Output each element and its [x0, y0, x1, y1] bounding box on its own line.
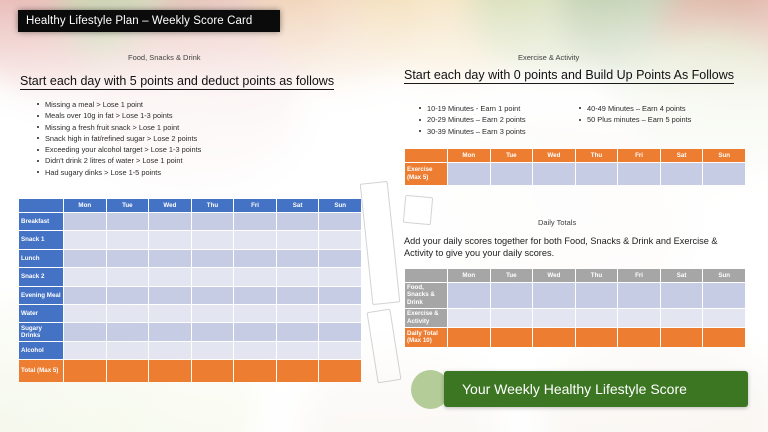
row-label-food-snacks-drink: Food, Snacks & Drink: [405, 283, 447, 308]
cell-lunch-mon[interactable]: [64, 250, 106, 267]
cell-snack2-sat[interactable]: [277, 268, 319, 285]
cell-sugary-sun[interactable]: [319, 323, 361, 340]
cell-activity-thu[interactable]: [576, 309, 618, 327]
cell-alcohol-wed[interactable]: [149, 342, 191, 359]
cell-water-sun[interactable]: [319, 305, 361, 322]
cell-water-sat[interactable]: [277, 305, 319, 322]
cell-daily-total-tue[interactable]: [491, 328, 533, 347]
cell-food-sun[interactable]: [703, 283, 745, 308]
row-label-exercise: Exercise (Max 5): [405, 163, 447, 185]
cell-lunch-wed[interactable]: [149, 250, 191, 267]
cell-exercise-wed[interactable]: [533, 163, 575, 185]
cell-alcohol-tue[interactable]: [107, 342, 149, 359]
right-section-caption: Exercise & Activity: [518, 53, 579, 62]
cell-sugary-mon[interactable]: [64, 323, 106, 340]
column-header-tue: Tue: [107, 199, 149, 212]
column-header-wed: Wed: [149, 199, 191, 212]
table-corner-cell: [405, 149, 447, 162]
cell-snack1-wed[interactable]: [149, 231, 191, 248]
cell-evening-fri[interactable]: [234, 287, 276, 304]
column-header-thu: Thu: [576, 149, 618, 162]
cell-breakfast-fri[interactable]: [234, 213, 276, 230]
weekly-score-banner: Your Weekly Healthy Lifestyle Score: [404, 368, 748, 410]
daily-totals-paragraph: Add your daily scores together for both …: [404, 235, 748, 259]
row-label-evening-meal: Evening Meal: [19, 287, 63, 304]
table-total-row: Daily Total (Max 10): [405, 328, 745, 347]
table-row: Evening Meal: [19, 287, 361, 304]
cell-water-tue[interactable]: [107, 305, 149, 322]
column-header-sun: Sun: [703, 149, 745, 162]
list-item: 30-39 Minutes – Earn 3 points: [418, 126, 526, 137]
cell-total-sat[interactable]: [277, 360, 319, 382]
column-header-sun: Sun: [703, 269, 745, 282]
column-header-fri: Fri: [618, 269, 660, 282]
cell-lunch-fri[interactable]: [234, 250, 276, 267]
cell-snack1-fri[interactable]: [234, 231, 276, 248]
row-label-water: Water: [19, 305, 63, 322]
cell-breakfast-sun[interactable]: [319, 213, 361, 230]
cell-evening-thu[interactable]: [192, 287, 234, 304]
cell-snack2-thu[interactable]: [192, 268, 234, 285]
cell-breakfast-wed[interactable]: [149, 213, 191, 230]
cell-food-mon[interactable]: [448, 283, 490, 308]
list-item: Missing a meal > Lose 1 point: [36, 99, 201, 110]
cell-daily-total-mon[interactable]: [448, 328, 490, 347]
cell-snack1-sat[interactable]: [277, 231, 319, 248]
cell-evening-wed[interactable]: [149, 287, 191, 304]
cell-daily-total-thu[interactable]: [576, 328, 618, 347]
table-row: Water: [19, 305, 361, 322]
row-label-exercise-activity: Exercise & Activity: [405, 309, 447, 327]
list-item: 40-49 Minutes – Earn 4 points: [578, 103, 691, 114]
column-header-wed: Wed: [533, 149, 575, 162]
table-row: Breakfast: [19, 213, 361, 230]
cell-lunch-tue[interactable]: [107, 250, 149, 267]
column-header-mon: Mon: [448, 269, 490, 282]
column-header-mon: Mon: [64, 199, 106, 212]
list-item: 50 Plus minutes – Earn 5 points: [578, 114, 691, 125]
row-label-snack-1: Snack 1: [19, 231, 63, 248]
cell-activity-wed[interactable]: [533, 309, 575, 327]
list-item: 10-19 Minutes - Earn 1 point: [418, 103, 526, 114]
cell-activity-sat[interactable]: [661, 309, 703, 327]
column-header-sun: Sun: [319, 199, 361, 212]
exercise-rules-list-col2: 40-49 Minutes – Earn 4 points 50 Plus mi…: [578, 103, 691, 126]
banner-label: Your Weekly Healthy Lifestyle Score: [444, 381, 687, 397]
slide-title-bar: Healthy Lifestyle Plan – Weekly Score Ca…: [18, 10, 280, 32]
cell-exercise-fri[interactable]: [618, 163, 660, 185]
column-header-tue: Tue: [491, 269, 533, 282]
table-row: Snack 1: [19, 231, 361, 248]
cell-evening-sun[interactable]: [319, 287, 361, 304]
cell-snack1-mon[interactable]: [64, 231, 106, 248]
table-corner-cell: [19, 199, 63, 212]
daily-totals-caption: Daily Totals: [538, 218, 576, 227]
column-header-thu: Thu: [576, 269, 618, 282]
row-label-alcohol: Alcohol: [19, 342, 63, 359]
cell-breakfast-tue[interactable]: [107, 213, 149, 230]
cell-snack1-thu[interactable]: [192, 231, 234, 248]
daily-totals-table[interactable]: Mon Tue Wed Thu Fri Sat Sun Food, Snacks…: [404, 268, 746, 348]
table-row: Snack 2: [19, 268, 361, 285]
exercise-score-table[interactable]: Mon Tue Wed Thu Fri Sat Sun Exercise (Ma…: [404, 148, 746, 186]
cell-lunch-sat[interactable]: [277, 250, 319, 267]
cell-activity-sun[interactable]: [703, 309, 745, 327]
list-item: 20-29 Minutes – Earn 2 points: [418, 114, 526, 125]
cell-exercise-sat[interactable]: [661, 163, 703, 185]
cell-breakfast-sat[interactable]: [277, 213, 319, 230]
cell-evening-tue[interactable]: [107, 287, 149, 304]
cell-food-tue[interactable]: [491, 283, 533, 308]
column-header-fri: Fri: [234, 199, 276, 212]
table-total-row: Total (Max 5): [19, 360, 361, 382]
left-section-caption: Food, Snacks & Drink: [128, 53, 201, 62]
cell-snack2-sun[interactable]: [319, 268, 361, 285]
cell-sugary-sat[interactable]: [277, 323, 319, 340]
list-item: Had sugary dinks > Lose 1-5 points: [36, 167, 201, 178]
row-label-breakfast: Breakfast: [19, 213, 63, 230]
cell-sugary-wed[interactable]: [149, 323, 191, 340]
cell-exercise-thu[interactable]: [576, 163, 618, 185]
column-header-sat: Sat: [277, 199, 319, 212]
row-label-total: Total (Max 5): [19, 360, 63, 382]
cell-snack2-mon[interactable]: [64, 268, 106, 285]
cell-evening-sat[interactable]: [277, 287, 319, 304]
table-header-row: Mon Tue Wed Thu Fri Sat Sun: [405, 269, 745, 282]
exercise-rules-list-col1: 10-19 Minutes - Earn 1 point 20-29 Minut…: [418, 103, 526, 137]
column-header-tue: Tue: [491, 149, 533, 162]
column-header-mon: Mon: [448, 149, 490, 162]
list-item: Meals over 10g in fat > Lose 1-3 points: [36, 110, 201, 121]
notebook-doodle-3: [403, 195, 433, 225]
column-header-wed: Wed: [533, 269, 575, 282]
cell-food-thu[interactable]: [576, 283, 618, 308]
cell-breakfast-mon[interactable]: [64, 213, 106, 230]
cell-water-mon[interactable]: [64, 305, 106, 322]
cell-lunch-sun[interactable]: [319, 250, 361, 267]
column-header-thu: Thu: [192, 199, 234, 212]
cell-total-tue[interactable]: [107, 360, 149, 382]
table-row: Food, Snacks & Drink: [405, 283, 745, 308]
cell-alcohol-sat[interactable]: [277, 342, 319, 359]
cell-alcohol-mon[interactable]: [64, 342, 106, 359]
table-row: Exercise (Max 5): [405, 163, 745, 185]
slide-canvas: Healthy Lifestyle Plan – Weekly Score Ca…: [0, 0, 768, 432]
cell-total-fri[interactable]: [234, 360, 276, 382]
cell-snack2-tue[interactable]: [107, 268, 149, 285]
cell-evening-mon[interactable]: [64, 287, 106, 304]
banner-bar: Your Weekly Healthy Lifestyle Score: [444, 371, 748, 407]
cell-lunch-thu[interactable]: [192, 250, 234, 267]
cell-alcohol-fri[interactable]: [234, 342, 276, 359]
cell-food-sat[interactable]: [661, 283, 703, 308]
cell-breakfast-thu[interactable]: [192, 213, 234, 230]
table-row: Sugary Drinks: [19, 323, 361, 340]
cell-snack2-fri[interactable]: [234, 268, 276, 285]
cell-daily-total-sun[interactable]: [703, 328, 745, 347]
left-section-heading: Start each day with 5 points and deduct …: [20, 74, 334, 90]
list-item: Didn't drink 2 litres of water > Lose 1 …: [36, 155, 201, 166]
cell-water-fri[interactable]: [234, 305, 276, 322]
cell-water-wed[interactable]: [149, 305, 191, 322]
row-label-daily-total: Daily Total (Max 10): [405, 328, 447, 347]
row-label-sugary-drinks: Sugary Drinks: [19, 323, 63, 340]
cell-snack1-sun[interactable]: [319, 231, 361, 248]
table-header-row: Mon Tue Wed Thu Fri Sat Sun: [19, 199, 361, 212]
list-item: Missing a fresh fruit snack > Lose 1 poi…: [36, 122, 201, 133]
right-section-heading: Start each day with 0 points and Build U…: [404, 68, 734, 84]
page-title: Healthy Lifestyle Plan – Weekly Score Ca…: [18, 15, 252, 27]
table-row: Lunch: [19, 250, 361, 267]
cell-activity-fri[interactable]: [618, 309, 660, 327]
row-label-lunch: Lunch: [19, 250, 63, 267]
column-header-sat: Sat: [661, 149, 703, 162]
cell-water-thu[interactable]: [192, 305, 234, 322]
cell-exercise-mon[interactable]: [448, 163, 490, 185]
table-header-row: Mon Tue Wed Thu Fri Sat Sun: [405, 149, 745, 162]
cell-exercise-sun[interactable]: [703, 163, 745, 185]
table-row: Alcohol: [19, 342, 361, 359]
food-rules-list: Missing a meal > Lose 1 point Meals over…: [36, 99, 201, 178]
list-item: Exceeding your alcohol target > Lose 1-3…: [36, 144, 201, 155]
table-corner-cell: [405, 269, 447, 282]
cell-alcohol-sun[interactable]: [319, 342, 361, 359]
list-item: Snack high in fat/refined sugar > Lose 2…: [36, 133, 201, 144]
cell-total-wed[interactable]: [149, 360, 191, 382]
cell-snack1-tue[interactable]: [107, 231, 149, 248]
column-header-sat: Sat: [661, 269, 703, 282]
cell-sugary-tue[interactable]: [107, 323, 149, 340]
cell-daily-total-fri[interactable]: [618, 328, 660, 347]
cell-total-thu[interactable]: [192, 360, 234, 382]
table-row: Exercise & Activity: [405, 309, 745, 327]
cell-daily-total-sat[interactable]: [661, 328, 703, 347]
cell-total-mon[interactable]: [64, 360, 106, 382]
cell-sugary-thu[interactable]: [192, 323, 234, 340]
cell-alcohol-thu[interactable]: [192, 342, 234, 359]
cell-snack2-wed[interactable]: [149, 268, 191, 285]
column-header-fri: Fri: [618, 149, 660, 162]
cell-food-wed[interactable]: [533, 283, 575, 308]
cell-sugary-fri[interactable]: [234, 323, 276, 340]
cell-daily-total-wed[interactable]: [533, 328, 575, 347]
food-score-table[interactable]: Mon Tue Wed Thu Fri Sat Sun Breakfast Sn…: [18, 198, 362, 383]
cell-activity-mon[interactable]: [448, 309, 490, 327]
cell-total-sun[interactable]: [319, 360, 361, 382]
row-label-snack-2: Snack 2: [19, 268, 63, 285]
cell-activity-tue[interactable]: [491, 309, 533, 327]
cell-exercise-tue[interactable]: [491, 163, 533, 185]
cell-food-fri[interactable]: [618, 283, 660, 308]
